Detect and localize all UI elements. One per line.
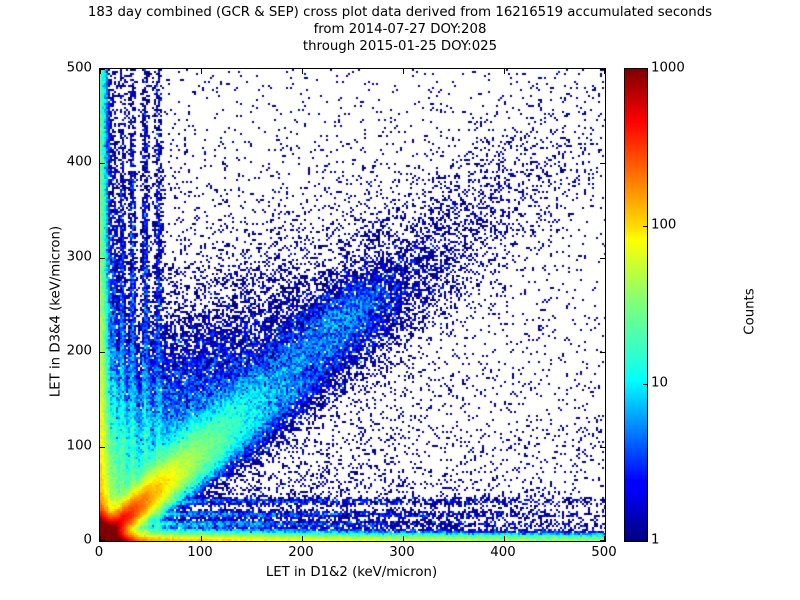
y-tick-200: [600, 352, 605, 353]
y-tick-500: [600, 69, 605, 70]
title-line-3: through 2015-01-25 DOY:025: [0, 38, 800, 55]
y-axis-label: LET in D3&4 (keV/micron): [49, 172, 64, 452]
figure-title: 183 day combined (GCR & SEP) cross plot …: [0, 4, 800, 55]
figure-canvas: 183 day combined (GCR & SEP) cross plot …: [0, 0, 800, 600]
x-tick-200: [302, 536, 303, 541]
y-tick-100: [100, 447, 105, 448]
colorbar-ticklabel-1: 1: [651, 533, 659, 548]
x-axis-label: LET in D1&2 (keV/micron): [99, 565, 604, 580]
colorbar: [624, 68, 648, 542]
x-ticklabel-500: 500: [591, 545, 616, 560]
y-tick-500: [100, 69, 105, 70]
density-scatter-plot: [100, 69, 605, 541]
y-tick-200: [100, 352, 105, 353]
x-tick-100: [201, 536, 202, 541]
title-line-2: from 2014-07-27 DOY:208: [0, 21, 800, 38]
y-tick-100: [600, 447, 605, 448]
colorbar-ticklabel-10: 10: [651, 375, 668, 390]
y-ticklabel-500: 500: [40, 61, 92, 76]
x-tick-400: [504, 69, 505, 74]
y-ticklabel-400: 400: [40, 155, 92, 170]
x-tick-300: [403, 536, 404, 541]
y-ticklabel-0: 0: [40, 533, 92, 548]
title-line-1: 183 day combined (GCR & SEP) cross plot …: [0, 4, 800, 21]
x-tick-400: [504, 536, 505, 541]
y-tick-0: [100, 540, 105, 541]
x-ticklabel-100: 100: [187, 545, 212, 560]
x-ticklabel-400: 400: [490, 545, 515, 560]
x-tick-300: [403, 69, 404, 74]
colorbar-tick-10: [643, 384, 647, 385]
x-tick-200: [302, 69, 303, 74]
y-tick-400: [600, 163, 605, 164]
x-ticklabel-300: 300: [389, 545, 414, 560]
x-tick-100: [201, 69, 202, 74]
x-ticklabel-0: 0: [95, 545, 103, 560]
plot-axes: [99, 68, 606, 542]
x-ticklabel-200: 200: [288, 545, 313, 560]
colorbar-ticklabel-1000: 1000: [651, 61, 685, 76]
y-tick-400: [100, 163, 105, 164]
colorbar-gradient: [625, 69, 647, 541]
y-tick-300: [100, 258, 105, 259]
y-tick-300: [600, 258, 605, 259]
colorbar-ticklabel-100: 100: [651, 218, 676, 233]
colorbar-label: Counts: [743, 172, 758, 452]
colorbar-tick-100: [643, 226, 647, 227]
y-tick-0: [600, 540, 605, 541]
